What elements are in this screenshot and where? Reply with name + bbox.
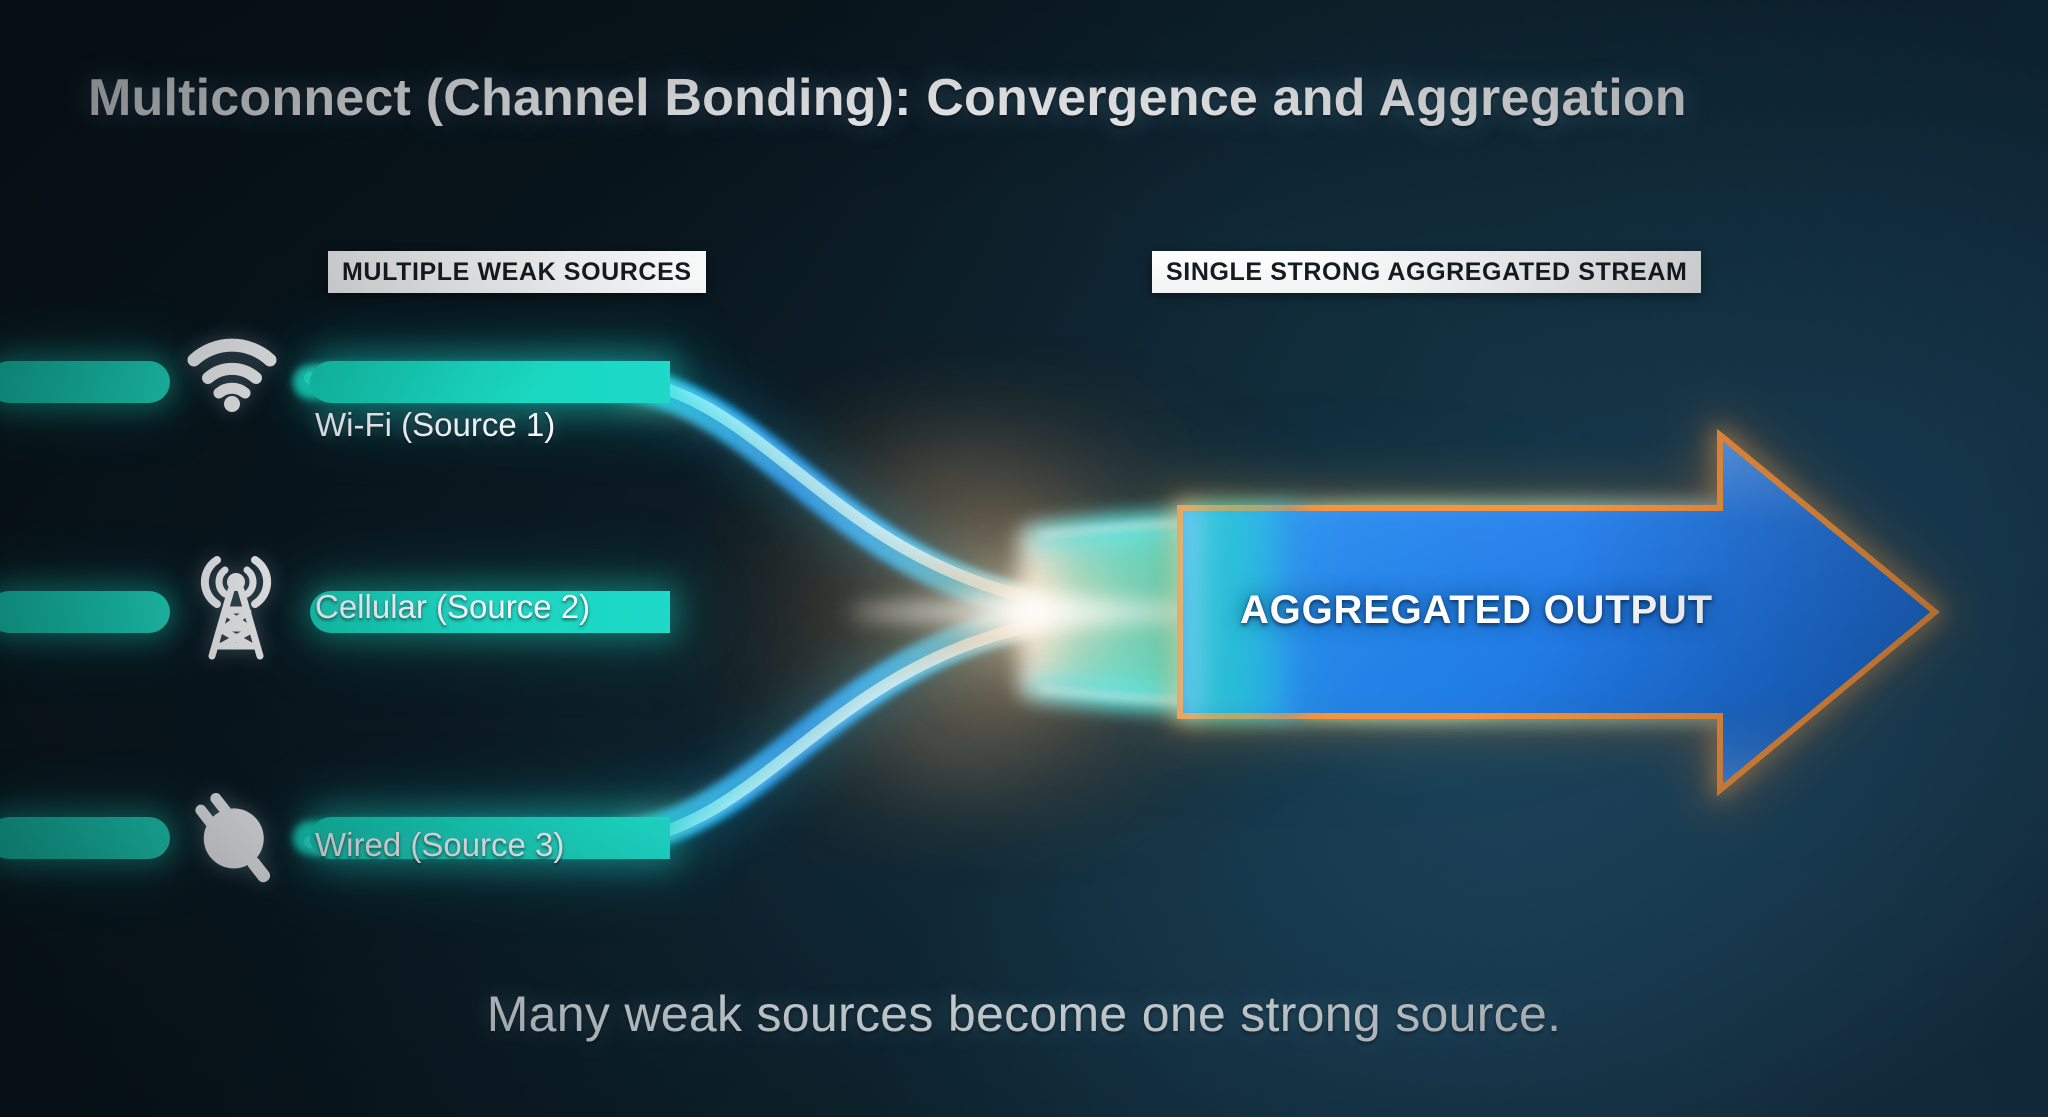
wifi-icon <box>186 334 278 412</box>
cell-tower-icon <box>190 548 282 660</box>
source-label-wifi: Wi-Fi (Source 1) <box>315 406 555 444</box>
source-stub-cellular <box>0 591 170 633</box>
source-bar-wifi <box>310 361 670 403</box>
badge-multiple-weak-sources: MULTIPLE WEAK SOURCES <box>328 251 706 293</box>
source-stub-wired <box>0 817 170 859</box>
caption: Many weak sources become one strong sour… <box>0 985 2048 1043</box>
stream-artwork <box>0 0 2048 1117</box>
source-label-wired: Wired (Source 3) <box>315 826 564 864</box>
diagram-canvas: Multiconnect (Channel Bonding): Converge… <box>0 0 2048 1117</box>
page-title: Multiconnect (Channel Bonding): Converge… <box>88 68 1988 128</box>
power-plug-icon <box>180 788 290 892</box>
aggregated-output-label: AGGREGATED OUTPUT <box>1240 588 1713 633</box>
source-label-cellular: Cellular (Source 2) <box>315 588 590 626</box>
badge-single-strong-stream: SINGLE STRONG AGGREGATED STREAM <box>1152 251 1701 293</box>
source-stub-wifi <box>0 361 170 403</box>
